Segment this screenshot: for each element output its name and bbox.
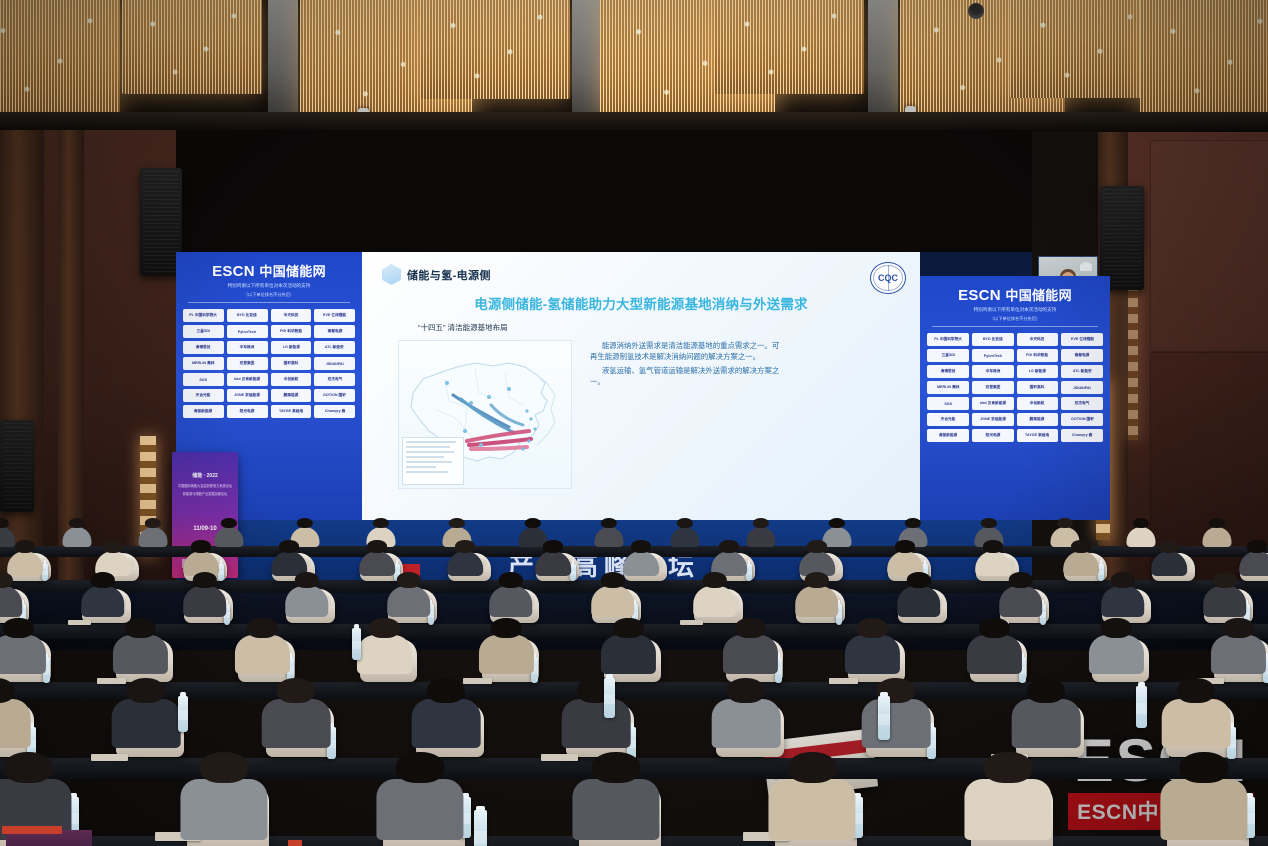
- sponsor-logo: 三星SDI: [927, 349, 969, 362]
- audience-body: [138, 527, 167, 547]
- audience-head: [702, 572, 726, 588]
- sponsor-logo: BYD 比亚迪: [227, 309, 268, 322]
- audience-member: [120, 618, 161, 668]
- sponsor-logo-label: 中车株洲: [985, 369, 1000, 375]
- sponsor-logo: JIDIANPAI: [1061, 381, 1103, 394]
- audience-member: [1020, 678, 1072, 740]
- sponsor-logo: Chunqey 春: [314, 405, 355, 418]
- sponsor-logo: 中天科技: [271, 309, 312, 322]
- audience-head: [1133, 518, 1149, 528]
- audience-body: [489, 586, 533, 617]
- sponsor-logo-label: 中天科技: [1030, 337, 1045, 343]
- sponsor-logo-label: PylonTech: [238, 329, 256, 334]
- audience-member: [392, 572, 425, 612]
- sponsor-logo-label: MERLIN 美林: [937, 385, 959, 391]
- audience-member: [628, 540, 655, 572]
- sponsor-logo-label: 中天科技: [284, 313, 299, 319]
- audience-body: [1211, 635, 1265, 674]
- sponsor-logo: 国轩高科: [271, 357, 312, 370]
- sponsor-logo: MERLIN 美林: [183, 357, 224, 370]
- audience-body: [591, 586, 635, 617]
- sponsor-logo-label: GOTION 国轩: [1071, 417, 1094, 423]
- sponsor-logo-label: PL 中国科学院大: [934, 337, 962, 343]
- sponsor-logo-label: LG 新能源: [1029, 369, 1046, 375]
- sponsor-logo: 双登集团: [972, 381, 1014, 394]
- banner-subtitle-1: 特别鸣谢以下所有单位对本次活动的支持: [920, 307, 1110, 313]
- audience-body: [448, 551, 484, 576]
- map-caption: “十四五” 清洁能源基地布局: [418, 322, 508, 333]
- conference-table: [0, 682, 1268, 699]
- audience-member: [1004, 572, 1037, 612]
- sponsor-logo: PGI 科华数能: [271, 325, 312, 338]
- sponsor-logo: 天合光能: [183, 389, 224, 402]
- sponsor-logo: 海基新能源: [183, 405, 224, 418]
- audience-head: [1101, 618, 1131, 638]
- audience-head: [984, 752, 1033, 783]
- banner-brand-cn: 中国储能网: [1005, 288, 1072, 303]
- audience-body: [1162, 699, 1231, 747]
- audience-head: [1223, 618, 1253, 638]
- audience-head: [0, 572, 13, 588]
- sponsor-logo-label: BYD 比亚迪: [237, 313, 257, 319]
- standing-banner-title: 储能 · 2022: [172, 472, 238, 479]
- sponsor-logo-label: ATL 新能安: [1073, 369, 1092, 375]
- sponsor-logo: PylonTech: [227, 325, 268, 338]
- audience-body: [262, 699, 331, 747]
- audience-body: [1202, 527, 1231, 547]
- audience-body: [377, 779, 464, 840]
- slide-paragraph: 液氢运输、氢气管道运输是解决外送需求的解决方案之一。: [590, 365, 782, 387]
- audience-member: [1068, 540, 1095, 572]
- sponsor-logo-label: 天合光能: [196, 393, 211, 399]
- sponsor-logo: BYD 比亚迪: [972, 333, 1014, 346]
- chandelier-panel: [1140, 0, 1268, 118]
- audience-head: [1110, 572, 1134, 588]
- audience-head: [449, 518, 465, 528]
- audience-head: [247, 618, 277, 638]
- sponsor-logo-label: BYD 比亚迪: [983, 337, 1003, 343]
- audience-body: [181, 779, 268, 840]
- audience-body: [0, 635, 46, 674]
- audience-body: [712, 699, 781, 747]
- sponsor-logo: bkd 贝肯新能源: [227, 373, 268, 386]
- audience-body: [360, 551, 396, 576]
- audience-head: [807, 540, 827, 553]
- audience-member: [1208, 572, 1241, 612]
- audience-head: [788, 752, 837, 783]
- audience-head: [191, 540, 211, 553]
- sponsor-logo-label: 鹏辉能源: [284, 393, 299, 399]
- audience-head: [396, 752, 445, 783]
- document-paper: [68, 620, 91, 625]
- sponsor-logo-label: 南都电源: [1075, 353, 1090, 359]
- sponsor-logo-label: bkd 贝肯新能源: [980, 401, 1006, 407]
- audience-member: [494, 572, 527, 612]
- sponsor-logo: 三星SDI: [183, 325, 224, 338]
- sponsor-logo: LG 新能源: [271, 341, 312, 354]
- sponsor-logo: 海博思创: [927, 365, 969, 378]
- audience-member: [0, 518, 12, 544]
- audience-member: [674, 518, 696, 544]
- sponsor-logo: MERLIN 美林: [927, 381, 969, 394]
- sponsor-logo-label: 中创新航: [1030, 401, 1045, 407]
- sponsor-logo: 阳光电源: [972, 429, 1014, 442]
- audience-head: [543, 540, 563, 553]
- sponsor-logo-label: 海基新能源: [939, 433, 957, 439]
- audience-body: [862, 699, 931, 747]
- audience-body: [235, 635, 289, 674]
- audience-member: [730, 618, 771, 668]
- sponsor-logo-label: EVE 亿纬锂能: [323, 313, 346, 319]
- sponsor-logo-label: SGS: [944, 401, 952, 406]
- chandelier-panel: [0, 0, 120, 116]
- audience-body: [1203, 586, 1247, 617]
- audience-head: [373, 518, 389, 528]
- sponsor-logo-label: Chunqey 春: [324, 409, 344, 415]
- chandelier-panel: [1010, 0, 1160, 98]
- audience-head: [895, 540, 915, 553]
- audience-head: [829, 518, 845, 528]
- audience-member: [1096, 618, 1137, 668]
- audience-member: [66, 518, 88, 544]
- audience-body: [1152, 551, 1188, 576]
- audience-member: [1206, 518, 1228, 544]
- sponsor-logo: EVE 亿纬锂能: [1061, 333, 1103, 346]
- audience-member: [852, 618, 893, 668]
- banner-subtitle-2: （以下单位排名不分先后）: [176, 292, 362, 298]
- audience-head: [857, 618, 887, 638]
- document-paper: [829, 678, 858, 684]
- audience-member: [290, 572, 323, 612]
- audience-head: [294, 572, 318, 588]
- sponsor-logo: SGS: [183, 373, 224, 386]
- audience-body: [670, 527, 699, 547]
- audience-member: [12, 540, 39, 572]
- audience-member: [218, 518, 240, 544]
- audience-body: [795, 586, 839, 617]
- audience-member: [86, 572, 119, 612]
- sponsor-logo: Chunqey 春: [1061, 429, 1103, 442]
- sponsor-logo: GOTION 国轩: [314, 389, 355, 402]
- audience-member: [364, 540, 391, 572]
- sponsor-logo-label: PL 中国科学院大: [190, 313, 218, 319]
- audience-member: [1170, 678, 1222, 740]
- sponsor-logo: 阳光电源: [227, 405, 268, 418]
- sponsor-logo: 鹏辉能源: [271, 389, 312, 402]
- sponsor-logo-label: EVE 亿纬锂能: [1071, 337, 1094, 343]
- audience-member: [892, 540, 919, 572]
- presentation-slide: 储能与氢-电源侧 CQC 电源侧储能-氢储能助力大型新能源基地消纳与外送需求 “…: [362, 252, 920, 520]
- audience-member: [583, 752, 649, 830]
- audience-body: [746, 527, 775, 547]
- audience-head: [719, 540, 739, 553]
- audience-head: [103, 540, 123, 553]
- ceiling-trim: [0, 112, 1268, 132]
- audience-member: [1218, 618, 1259, 668]
- audience-member: [452, 540, 479, 572]
- sponsor-logo: EVE 亿纬锂能: [314, 309, 355, 322]
- pa-speaker-side: [0, 420, 34, 512]
- audience-member: [1106, 572, 1139, 612]
- sponsor-logo: JGNE 京硅能源: [972, 413, 1014, 426]
- audience-member: [974, 618, 1015, 668]
- audience-body: [1101, 586, 1145, 617]
- ceiling-beam: [868, 0, 898, 118]
- sponsor-logo-label: JGNE 京硅能源: [234, 393, 260, 399]
- led-screen: ESCN 中国储能网 特别鸣谢以下所有单位对本次活动的支持 （以下单位排名不分先…: [176, 252, 1032, 520]
- audience-head: [279, 540, 299, 553]
- audience-body: [723, 635, 777, 674]
- sponsor-logo: LG 新能源: [1017, 365, 1059, 378]
- water-bottle: [1136, 686, 1147, 728]
- audience-head: [192, 572, 216, 588]
- audience-body: [183, 586, 227, 617]
- chandelier-panel: [420, 0, 570, 99]
- slide-paragraph: 能源消纳外送需求是清洁能源基地的重点需求之一。可再生能源制氢技术是解决消纳问题的…: [590, 340, 782, 362]
- audience-body: [479, 635, 533, 674]
- audience-body: [1012, 699, 1081, 747]
- sponsor-logo: GOTION 国轩: [1061, 413, 1103, 426]
- banner-brand-cn: 中国储能网: [259, 264, 326, 279]
- audience-member: [364, 618, 405, 668]
- sponsor-logo-label: SGS: [199, 377, 207, 382]
- audience-body: [573, 779, 660, 840]
- audience-member: [188, 572, 221, 612]
- audience-head: [1008, 572, 1032, 588]
- sponsor-logo: 海基新能源: [927, 429, 969, 442]
- banner-subtitle-1: 特别鸣谢以下所有单位对本次活动的支持: [176, 283, 362, 289]
- cqc-logo-icon: CQC: [870, 262, 906, 294]
- audience-member: [540, 540, 567, 572]
- audience-head: [145, 518, 161, 528]
- audience-member: [0, 752, 61, 830]
- sponsor-logo-label: 双登集团: [240, 361, 255, 367]
- audience-head: [613, 618, 643, 638]
- sponsor-logo-label: 国轩高科: [284, 361, 299, 367]
- sponsor-logo-label: JIDIANPAI: [1073, 385, 1091, 390]
- water-bottle: [878, 696, 890, 740]
- audience-member: [779, 752, 845, 830]
- wall-behind-screen: [176, 130, 1032, 256]
- sponsor-logo: ATL 新能安: [314, 341, 355, 354]
- slide-kicker: 储能与氢-电源侧: [407, 267, 491, 283]
- sponsor-logo-label: 中车株洲: [240, 345, 255, 351]
- sponsor-logo: 海博思创: [183, 341, 224, 354]
- audience-member: [270, 678, 322, 740]
- audience-head: [979, 618, 1009, 638]
- audience-head: [1209, 518, 1225, 528]
- pa-speaker-right: [1100, 186, 1144, 290]
- audience-head: [592, 752, 641, 783]
- ceiling-beam: [268, 0, 298, 118]
- audience-head: [1159, 540, 1179, 553]
- sponsor-logo: PylonTech: [972, 349, 1014, 362]
- sponsor-logo-label: PGI 科华数能: [280, 329, 302, 335]
- audience-member: [902, 572, 935, 612]
- audience-head: [981, 518, 997, 528]
- audience-member: [1244, 540, 1268, 572]
- audience-head: [727, 678, 765, 703]
- audience-body: [845, 635, 899, 674]
- audience-body: [594, 527, 623, 547]
- sponsor-logo: SGS: [927, 397, 969, 410]
- audience-member: [0, 572, 17, 612]
- audience-body: [214, 527, 243, 547]
- sponsor-logo-label: MERLIN 美林: [192, 361, 214, 367]
- audience-body: [965, 779, 1052, 840]
- audience-head: [804, 572, 828, 588]
- audience-body: [412, 699, 481, 747]
- hexagon-icon: [382, 264, 401, 285]
- audience-head: [69, 518, 85, 528]
- audience-body: [113, 635, 167, 674]
- slide-body-text: 能源消纳外送需求是清洁能源基地的重点需求之一。可再生能源制氢技术是解决消纳问题的…: [590, 340, 782, 390]
- audience-head: [200, 752, 249, 783]
- audience-head: [677, 518, 693, 528]
- map-legend: [402, 437, 464, 485]
- sponsor-logo: 国轩高科: [1017, 381, 1059, 394]
- sponsor-logo: 鹏辉能源: [1017, 413, 1059, 426]
- audience-head: [906, 572, 930, 588]
- audience-body: [601, 635, 655, 674]
- audience-member: [980, 540, 1007, 572]
- audience-head: [1180, 752, 1229, 783]
- sponsor-logo-label: JGNE 京硅能源: [980, 417, 1006, 423]
- audience-member: [598, 518, 620, 544]
- sponsor-logo: JGNE 京硅能源: [227, 389, 268, 402]
- audience-member: [608, 618, 649, 668]
- audience-head: [905, 518, 921, 528]
- audience-head: [1177, 678, 1215, 703]
- audience-body: [81, 586, 125, 617]
- audience-head: [3, 618, 33, 638]
- dome-camera-icon: [968, 3, 984, 19]
- audience-head: [983, 540, 1003, 553]
- sponsor-banner-right: ESCN 中国储能网 特别鸣谢以下所有单位对本次活动的支持 （以下单位排名不分先…: [920, 276, 1110, 520]
- audience-head: [127, 678, 165, 703]
- sponsor-logo: TAYGE 泰格电: [1017, 429, 1059, 442]
- water-bottle: [178, 696, 188, 732]
- audience-member: [0, 678, 22, 740]
- sponsor-logo-label: 中创新航: [284, 377, 299, 383]
- audience-head: [601, 518, 617, 528]
- water-bottle: [604, 678, 615, 718]
- audience-member: [1130, 518, 1152, 544]
- water-bottle: [474, 810, 487, 846]
- audience-member: [716, 540, 743, 572]
- sponsor-logo-label: bkd 贝肯新能源: [234, 377, 260, 383]
- audience-body: [0, 699, 30, 747]
- sponsor-logo: PGI 科华数能: [1017, 349, 1059, 362]
- audience-body: [1064, 551, 1100, 576]
- document-paper: [541, 754, 577, 761]
- sponsor-logo: 天合光能: [927, 413, 969, 426]
- audience-body: [285, 586, 329, 617]
- audience-head: [753, 518, 769, 528]
- audience-head: [1071, 540, 1091, 553]
- audience-member: [191, 752, 257, 830]
- standing-banner-subtitle-1: 中国国际储能大会暨新型电力系统论坛: [172, 484, 238, 488]
- audience-body: [357, 635, 411, 674]
- sponsor-logo-label: Chunqey 春: [1072, 433, 1092, 439]
- audience-member: [387, 752, 453, 830]
- audience-member: [0, 618, 39, 668]
- sponsor-logo-label: TAYGE 泰格电: [1025, 433, 1049, 439]
- audience-head: [1057, 518, 1073, 528]
- audience-body: [1240, 551, 1268, 576]
- audience-body: [387, 586, 431, 617]
- audience-member: [800, 572, 833, 612]
- sponsor-logo-label: 鹏辉能源: [1030, 417, 1045, 423]
- sponsor-logo: 中天科技: [1017, 333, 1059, 346]
- wall-panel: [1150, 140, 1268, 352]
- ceiling: [0, 0, 1268, 132]
- sponsor-logo: 双杰电气: [314, 373, 355, 386]
- banner-subtitle-2: （以下单位排名不分先后）: [920, 316, 1110, 322]
- sponsor-logo-label: 海博思创: [196, 345, 211, 351]
- audience-head: [1247, 540, 1267, 553]
- audience-member: [276, 540, 303, 572]
- sponsor-logo-label: 阳光电源: [240, 409, 255, 415]
- audience-body: [769, 779, 856, 840]
- audience-head: [125, 618, 155, 638]
- audience-member: [486, 618, 527, 668]
- audience-member: [750, 518, 772, 544]
- audience-head: [396, 572, 420, 588]
- audience-body: [1126, 527, 1155, 547]
- audience-member: [242, 618, 283, 668]
- sponsor-logo-label: JIDIANPAI: [326, 361, 344, 366]
- sponsor-logo-label: LG 新能源: [282, 345, 299, 351]
- audience-head: [15, 540, 35, 553]
- sponsor-logo: PL 中国科学院大: [927, 333, 969, 346]
- audience-head: [631, 540, 651, 553]
- audience-body: [967, 635, 1021, 674]
- audience-member: [720, 678, 772, 740]
- audience-member: [120, 678, 172, 740]
- sponsor-logo-label: 双登集团: [985, 385, 1000, 391]
- audience-head: [735, 618, 765, 638]
- sponsor-logo-label: GOTION 国轩: [323, 393, 346, 399]
- sponsor-logo: PL 中国科学院大: [183, 309, 224, 322]
- sponsor-logo-label: 三星SDI: [941, 353, 954, 359]
- audience-head: [525, 518, 541, 528]
- audience-body: [897, 586, 941, 617]
- sponsor-logo: 南都电源: [314, 325, 355, 338]
- audience-head: [297, 518, 313, 528]
- audience-body: [562, 699, 631, 747]
- audience-head: [90, 572, 114, 588]
- audience-member: [1156, 540, 1183, 572]
- audience-head: [1027, 678, 1065, 703]
- sponsor-logo: ATL 新能安: [1061, 365, 1103, 378]
- sponsor-logo: 南都电源: [1061, 349, 1103, 362]
- audience-body: [693, 586, 737, 617]
- audience-member: [100, 540, 127, 572]
- audience-body: [536, 551, 572, 576]
- sponsor-logo-label: 双杰电气: [1075, 401, 1090, 407]
- seat-number-tag: [288, 840, 302, 846]
- audience-head: [221, 518, 237, 528]
- audience-head: [600, 572, 624, 588]
- sponsor-logo-label: 天合光能: [941, 417, 956, 423]
- audience-member: [1171, 752, 1237, 830]
- sponsor-logo: 双登集团: [227, 357, 268, 370]
- sponsor-logo: JIDIANPAI: [314, 357, 355, 370]
- sponsor-logo-label: 海基新能源: [194, 409, 212, 415]
- audience-head: [427, 678, 465, 703]
- sponsor-logo-label: 海博思创: [941, 369, 956, 375]
